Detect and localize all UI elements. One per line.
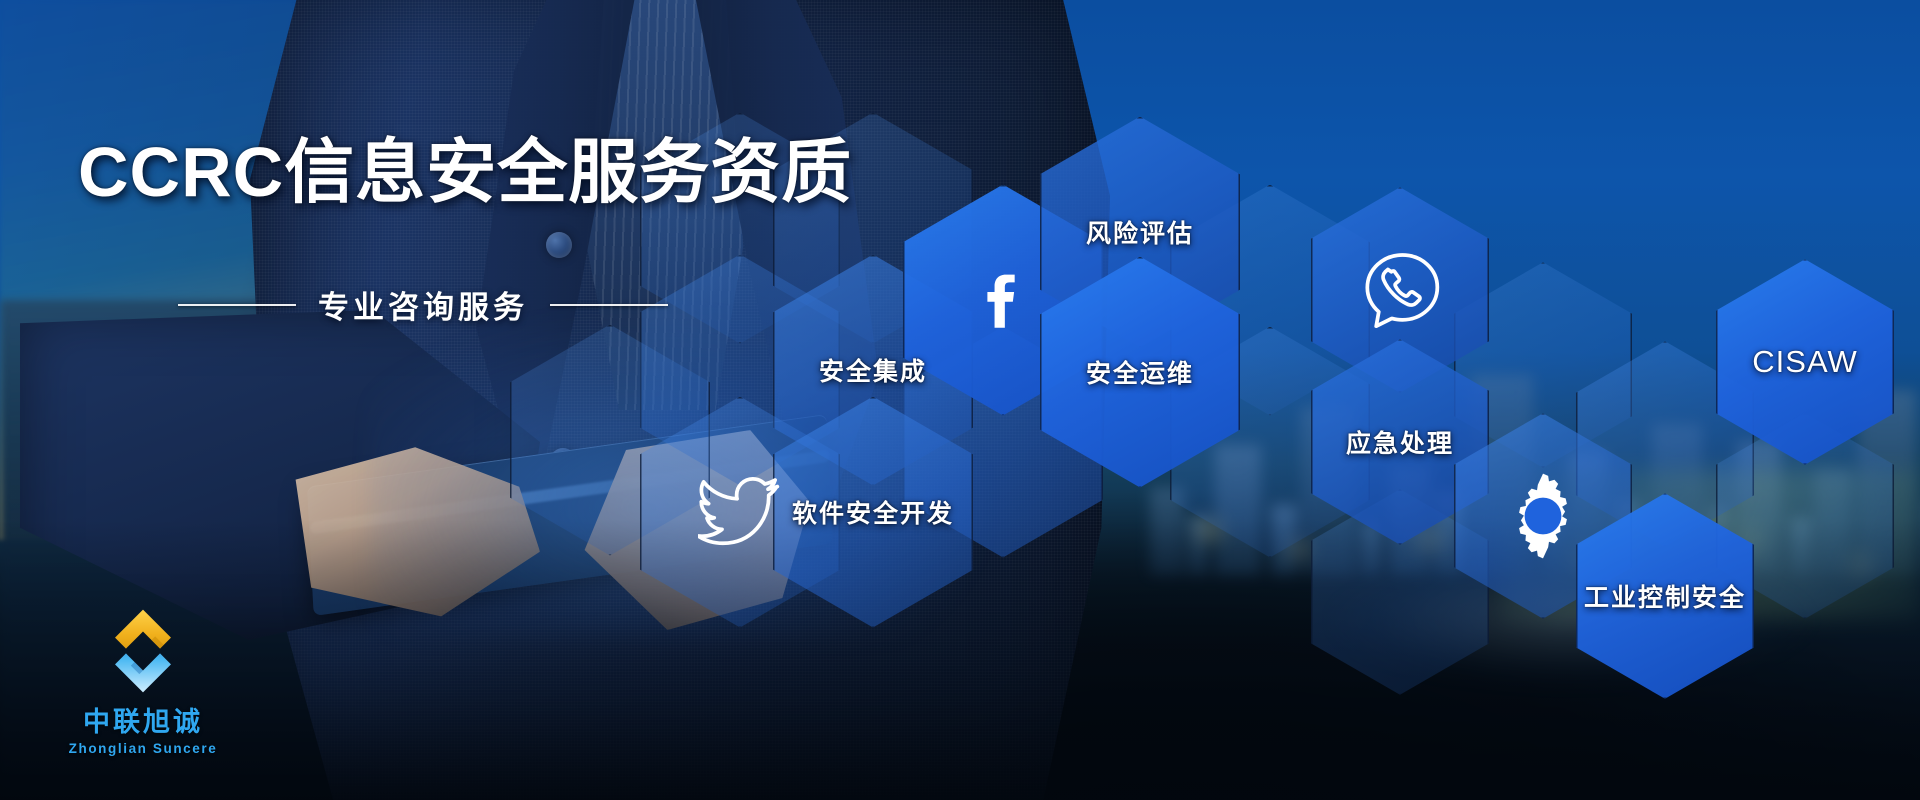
subtitle-text: 专业咨询服务 [318, 282, 528, 327]
logo-name-cn: 中联旭诚 [58, 700, 228, 739]
interlocking-diamond-logo-icon [100, 608, 186, 694]
company-logo[interactable]: 中联旭诚 Zhonglian Suncere [58, 608, 228, 756]
page-title: CCRC信息安全服务资质 [78, 116, 852, 217]
subtitle-group: 专业咨询服务 [178, 282, 668, 327]
subtitle-rule-left [178, 304, 296, 306]
subtitle-rule-right [550, 304, 668, 306]
banner-stage: 安全集成风险评估安全运维软件安全开发应急处理CISAW工业控制安全 CCRC信息… [0, 0, 1920, 800]
logo-name-en: Zhonglian Suncere [58, 741, 228, 756]
